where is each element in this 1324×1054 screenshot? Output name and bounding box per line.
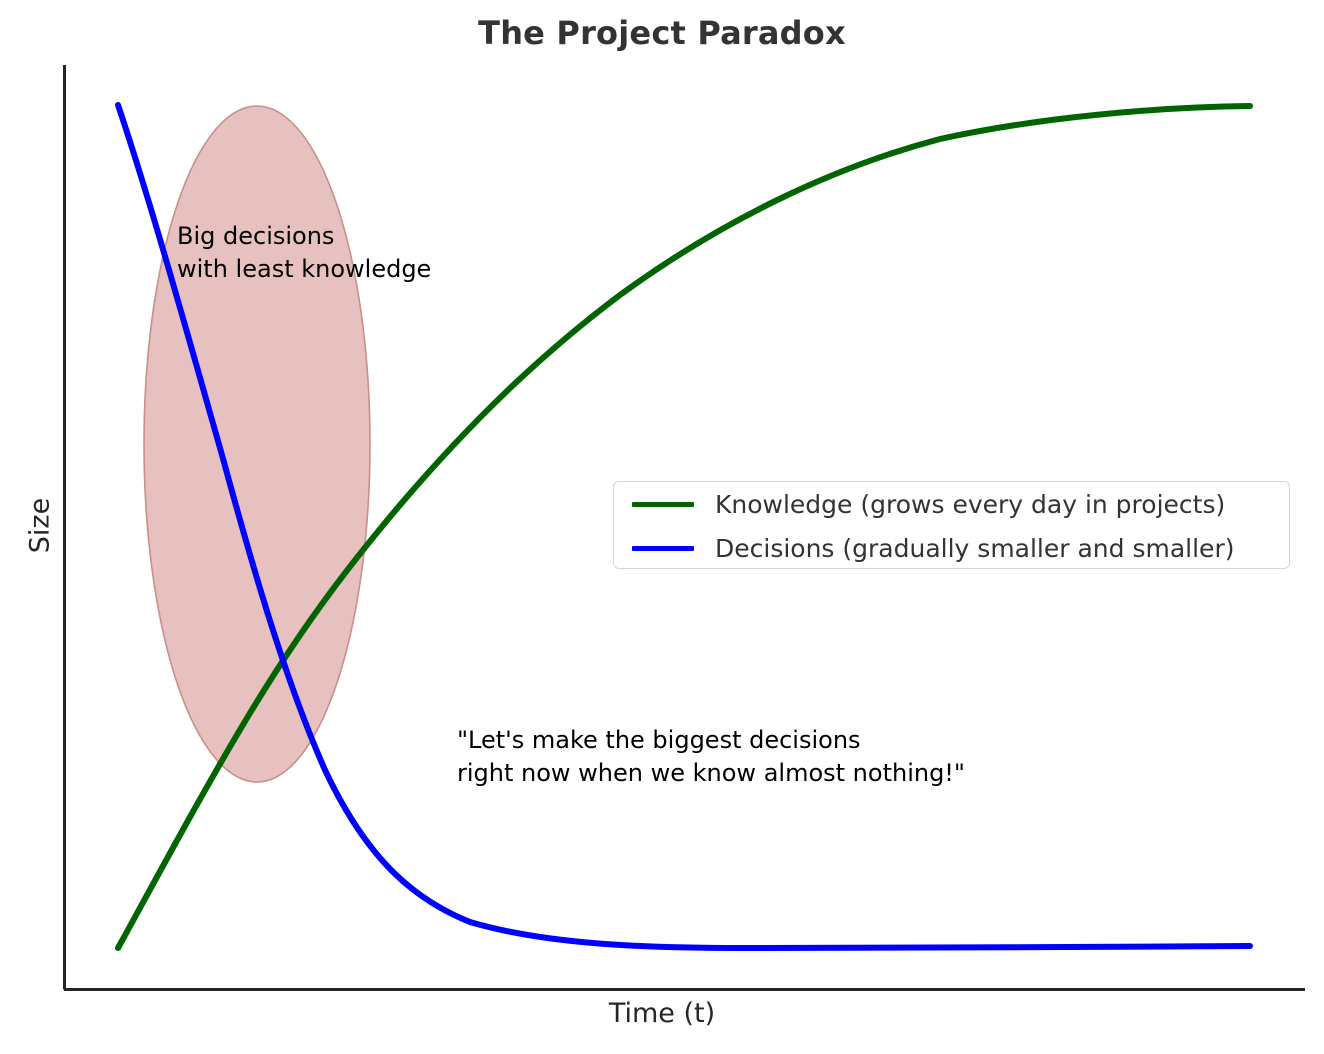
chart-legend: Knowledge (grows every day in projects) …	[613, 481, 1290, 569]
ellipse-highlight-shape	[144, 106, 370, 782]
x-axis-label: Time (t)	[0, 998, 1324, 1029]
chart-figure: The Project Paradox Time (t) Size Big de…	[0, 0, 1324, 1054]
annotation-big-decisions: Big decisions with least knowledge	[177, 220, 431, 286]
legend-swatch-decisions	[632, 546, 694, 551]
annotation-quote: "Let's make the biggest decisions right …	[457, 724, 965, 790]
legend-label-decisions: Decisions (gradually smaller and smaller…	[715, 534, 1234, 563]
legend-item-decisions[interactable]: Decisions (gradually smaller and smaller…	[614, 526, 1289, 570]
legend-swatch-knowledge	[632, 502, 694, 507]
legend-item-knowledge[interactable]: Knowledge (grows every day in projects)	[614, 482, 1289, 526]
legend-label-knowledge: Knowledge (grows every day in projects)	[715, 490, 1225, 519]
y-axis-label: Size	[25, 466, 56, 586]
